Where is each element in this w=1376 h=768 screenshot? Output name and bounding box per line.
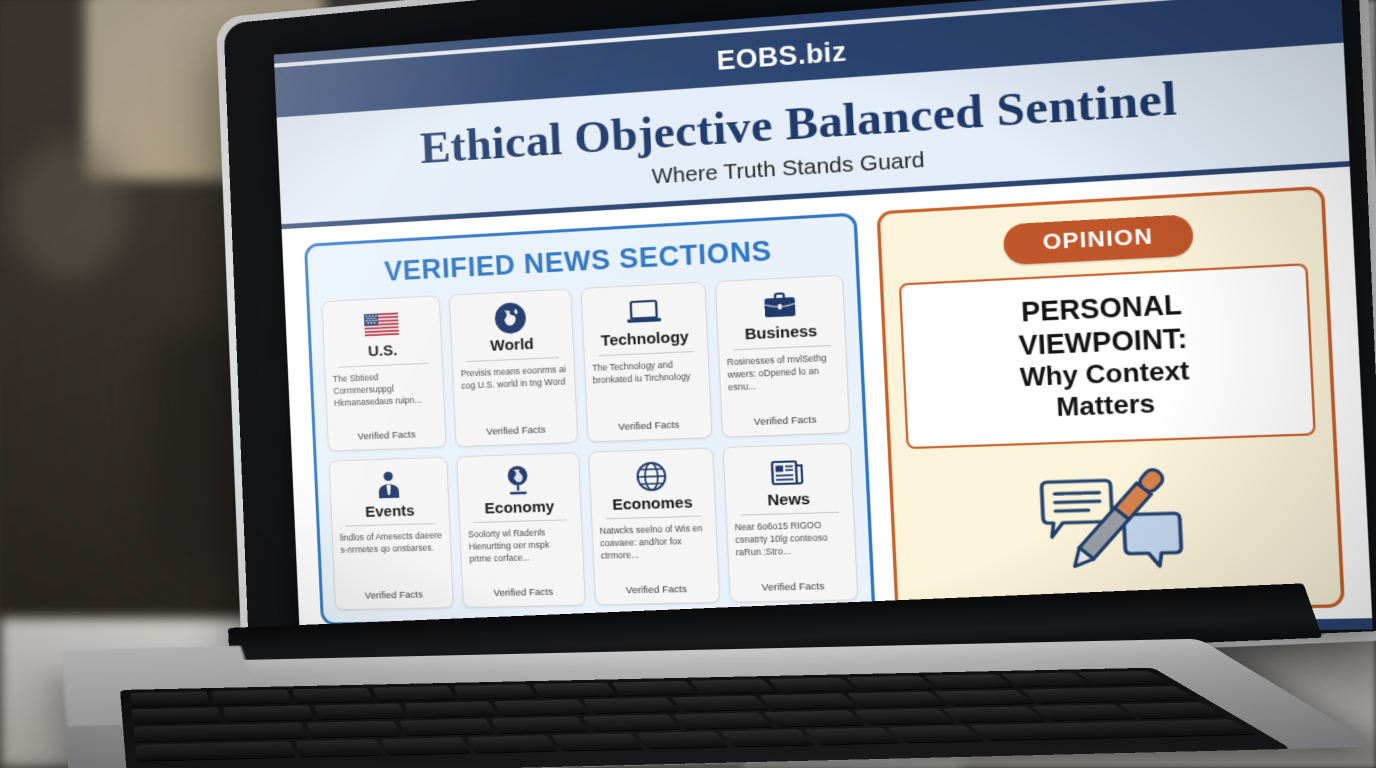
key-p bbox=[1119, 702, 1226, 718]
verified-news-panel: VERIFIED NEWS SECTIONS bbox=[304, 212, 876, 625]
key-o bbox=[1031, 704, 1136, 720]
key-k bbox=[887, 726, 984, 743]
newspaper-icon bbox=[769, 453, 805, 490]
person-suit-icon bbox=[373, 467, 405, 502]
news-card-business[interactable]: Business Rosinesses of rnvlSethg wwers: … bbox=[715, 275, 851, 438]
divider bbox=[741, 512, 839, 516]
verified-facts-label: Verified Facts bbox=[761, 581, 824, 594]
key-capslock bbox=[135, 741, 295, 761]
key bbox=[292, 688, 374, 703]
opinion-panel: OPINION PERSONAL VIEWPOINT: Why Context … bbox=[876, 186, 1345, 616]
laptop-screen: EOBS.biz Ethical Objective Balanced Sent… bbox=[274, 0, 1373, 646]
news-card-us[interactable]: U.S. The Sbtieed Cormmersuppgl Hkmanased… bbox=[321, 295, 446, 451]
key bbox=[759, 694, 858, 710]
key bbox=[223, 705, 314, 721]
globe-stand-icon bbox=[502, 462, 535, 498]
divider bbox=[346, 523, 436, 527]
news-card-body: The Sbtieed Cormmersuppgl Hkmanasedaus r… bbox=[333, 368, 438, 427]
key bbox=[373, 686, 456, 701]
verified-facts-label: Verified Facts bbox=[626, 584, 688, 597]
us-flag-icon bbox=[364, 306, 400, 342]
key bbox=[532, 683, 617, 698]
key bbox=[923, 674, 1014, 689]
keyboard-keys bbox=[130, 671, 1274, 768]
key bbox=[494, 699, 589, 715]
news-card-title: Events bbox=[365, 503, 415, 520]
key bbox=[847, 692, 947, 708]
key-q bbox=[306, 721, 400, 738]
globe-icon bbox=[495, 300, 527, 336]
news-card-title: Business bbox=[745, 323, 818, 343]
page-body: VERIFIED NEWS SECTIONS bbox=[282, 167, 1373, 636]
key-t bbox=[673, 712, 773, 729]
verified-facts-label: Verified Facts bbox=[357, 429, 415, 442]
news-card-economy[interactable]: Economy Soolorty wl Radenls Hienurtting … bbox=[456, 452, 585, 608]
news-card-body: Soolorty wl Radenls Hienurtting oer mspk… bbox=[468, 526, 576, 585]
key bbox=[314, 703, 406, 719]
key-s bbox=[381, 737, 470, 755]
key-j bbox=[804, 727, 900, 744]
key-u bbox=[853, 708, 956, 724]
key bbox=[1077, 671, 1170, 685]
news-card-title: News bbox=[767, 491, 810, 509]
divider bbox=[474, 520, 567, 524]
key-i bbox=[942, 706, 1046, 722]
key-tab bbox=[134, 723, 306, 742]
key bbox=[132, 707, 221, 723]
opinion-headline-card[interactable]: PERSONAL VIEWPOINT: Why Context Matters bbox=[899, 263, 1316, 449]
screenshot-scene: EOBS.biz Ethical Objective Balanced Sent… bbox=[0, 0, 1376, 768]
pen-and-speech-bubbles-icon bbox=[1022, 461, 1202, 590]
news-card-title: Technology bbox=[601, 329, 690, 349]
key-e bbox=[491, 717, 588, 734]
key bbox=[404, 701, 498, 717]
verified-facts-label: Verified Facts bbox=[618, 419, 679, 433]
key-enter bbox=[970, 719, 1256, 740]
key-d bbox=[467, 735, 557, 753]
news-card-title: Economes bbox=[612, 494, 693, 513]
news-card-grid: U.S. The Sbtieed Cormmersuppgl Hkmanased… bbox=[321, 275, 858, 611]
key bbox=[768, 677, 857, 692]
key-h bbox=[720, 729, 814, 746]
laptop-icon bbox=[625, 293, 663, 330]
divider bbox=[606, 516, 701, 520]
news-card-body: lindlos of Amesects daeere s-nrmetes qo … bbox=[340, 529, 445, 587]
key-backspace bbox=[1021, 686, 1198, 703]
key bbox=[690, 679, 778, 694]
key bbox=[934, 690, 1035, 706]
key bbox=[611, 681, 697, 696]
divider bbox=[598, 351, 693, 356]
key-a bbox=[295, 739, 383, 757]
key bbox=[1000, 672, 1092, 687]
key-f bbox=[552, 733, 644, 750]
key bbox=[583, 697, 679, 713]
news-card-news[interactable]: News Near 6o6o15 RIGOO csnatrty 10lg con… bbox=[722, 442, 858, 603]
briefcase-icon bbox=[761, 286, 797, 323]
key bbox=[211, 689, 291, 704]
news-card-title: Economy bbox=[484, 499, 554, 517]
site-domain[interactable]: EOBS.biz bbox=[716, 35, 847, 77]
verified-facts-label: Verified Facts bbox=[754, 414, 817, 428]
divider bbox=[733, 345, 831, 350]
key bbox=[846, 676, 936, 691]
key-r bbox=[582, 715, 681, 732]
wireframe-globe-icon bbox=[634, 458, 667, 494]
news-card-technology[interactable]: Technology The Technology and bronkated … bbox=[580, 282, 712, 442]
news-card-title: World bbox=[490, 337, 534, 355]
key bbox=[453, 684, 537, 699]
news-card-body: Natwcks seelno of Wis en coavaee: and/to… bbox=[599, 522, 710, 581]
news-card-body: The Technology and bronkated iu Tirchnol… bbox=[592, 357, 703, 418]
key-g bbox=[636, 731, 729, 748]
verified-facts-label: Verified Facts bbox=[365, 589, 423, 601]
news-card-economes[interactable]: Economes Natwcks seelno of Wis en coavae… bbox=[588, 447, 720, 605]
key bbox=[671, 696, 768, 712]
web-page: EOBS.biz Ethical Objective Balanced Sent… bbox=[274, 0, 1373, 646]
news-card-body: Rosinesses of rnvlSethg wwers: oDpened l… bbox=[727, 351, 841, 413]
verified-facts-label: Verified Facts bbox=[493, 587, 553, 599]
divider bbox=[338, 363, 428, 368]
news-card-world[interactable]: World Previsis means eoonrms ai cog U.S.… bbox=[449, 288, 578, 446]
verified-facts-label: Verified Facts bbox=[486, 424, 546, 437]
key-w bbox=[399, 719, 495, 736]
news-card-events[interactable]: Events lindlos of Amesects daeere s-nrme… bbox=[329, 456, 455, 610]
laptop-device: EOBS.biz Ethical Objective Balanced Sent… bbox=[0, 0, 1376, 768]
opinion-badge: OPINION bbox=[1003, 214, 1194, 265]
news-card-body: Near 6o6o15 RIGOO csnatrty 10lg conteoso… bbox=[734, 518, 848, 578]
key bbox=[130, 691, 209, 706]
news-card-body: Previsis means eoonrms ai cog U.S. world… bbox=[460, 363, 568, 423]
key-y bbox=[763, 710, 864, 727]
divider bbox=[466, 357, 559, 362]
news-card-title: U.S. bbox=[368, 343, 398, 360]
